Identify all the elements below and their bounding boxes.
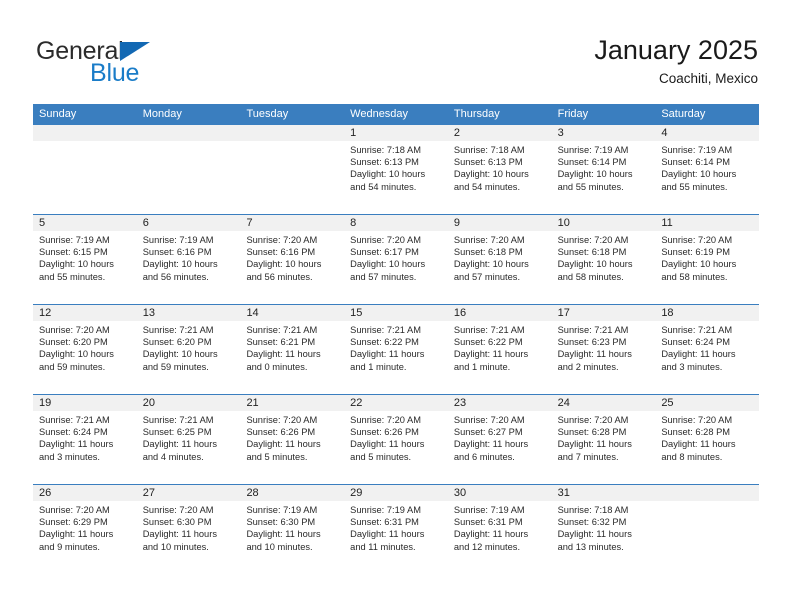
sunrise-text: Sunrise: 7:20 AM <box>246 414 339 426</box>
day-info: Sunrise: 7:21 AMSunset: 6:25 PMDaylight:… <box>137 411 241 463</box>
daylight-text-line1: Daylight: 10 hours <box>39 348 132 360</box>
day-cell[interactable]: 19Sunrise: 7:21 AMSunset: 6:24 PMDayligh… <box>33 395 137 484</box>
day-cell[interactable]: 21Sunrise: 7:20 AMSunset: 6:26 PMDayligh… <box>240 395 344 484</box>
day-info: Sunrise: 7:19 AMSunset: 6:16 PMDaylight:… <box>137 231 241 283</box>
day-cell[interactable]: 17Sunrise: 7:21 AMSunset: 6:23 PMDayligh… <box>552 305 656 394</box>
day-number <box>33 125 137 141</box>
week-row: 5Sunrise: 7:19 AMSunset: 6:15 PMDaylight… <box>33 214 759 304</box>
day-info: Sunrise: 7:21 AMSunset: 6:23 PMDaylight:… <box>552 321 656 373</box>
sunrise-text: Sunrise: 7:19 AM <box>246 504 339 516</box>
day-info: Sunrise: 7:21 AMSunset: 6:22 PMDaylight:… <box>448 321 552 373</box>
sunrise-text: Sunrise: 7:20 AM <box>39 324 132 336</box>
daylight-text-line2: and 57 minutes. <box>454 271 547 283</box>
day-number: 31 <box>552 485 656 501</box>
day-cell-empty <box>655 485 759 574</box>
sunrise-text: Sunrise: 7:20 AM <box>558 414 651 426</box>
weekday-header-row: Sunday Monday Tuesday Wednesday Thursday… <box>33 104 759 125</box>
day-info: Sunrise: 7:21 AMSunset: 6:22 PMDaylight:… <box>344 321 448 373</box>
weekday-header-friday: Friday <box>552 104 656 125</box>
daylight-text-line1: Daylight: 11 hours <box>246 528 339 540</box>
daylight-text-line2: and 11 minutes. <box>350 541 443 553</box>
daylight-text-line1: Daylight: 11 hours <box>454 528 547 540</box>
sunrise-text: Sunrise: 7:19 AM <box>558 144 651 156</box>
day-cell[interactable]: 15Sunrise: 7:21 AMSunset: 6:22 PMDayligh… <box>344 305 448 394</box>
daylight-text-line1: Daylight: 10 hours <box>454 168 547 180</box>
day-number: 21 <box>240 395 344 411</box>
daylight-text-line1: Daylight: 10 hours <box>143 258 236 270</box>
week-row: 26Sunrise: 7:20 AMSunset: 6:29 PMDayligh… <box>33 484 759 574</box>
daylight-text-line1: Daylight: 10 hours <box>246 258 339 270</box>
day-number <box>655 485 759 501</box>
daylight-text-line1: Daylight: 11 hours <box>143 528 236 540</box>
daylight-text-line1: Daylight: 10 hours <box>143 348 236 360</box>
daylight-text-line2: and 55 minutes. <box>558 181 651 193</box>
calendar-page: General Blue January 2025 Coachiti, Mexi… <box>0 0 792 612</box>
sunrise-text: Sunrise: 7:19 AM <box>143 234 236 246</box>
day-cell[interactable]: 26Sunrise: 7:20 AMSunset: 6:29 PMDayligh… <box>33 485 137 574</box>
daylight-text-line2: and 59 minutes. <box>39 361 132 373</box>
day-number: 2 <box>448 125 552 141</box>
day-cell[interactable]: 11Sunrise: 7:20 AMSunset: 6:19 PMDayligh… <box>655 215 759 304</box>
day-cell[interactable]: 10Sunrise: 7:20 AMSunset: 6:18 PMDayligh… <box>552 215 656 304</box>
daylight-text-line2: and 58 minutes. <box>558 271 651 283</box>
day-number: 28 <box>240 485 344 501</box>
sunset-text: Sunset: 6:14 PM <box>661 156 754 168</box>
day-info: Sunrise: 7:20 AMSunset: 6:18 PMDaylight:… <box>448 231 552 283</box>
week-row: 1Sunrise: 7:18 AMSunset: 6:13 PMDaylight… <box>33 125 759 214</box>
daylight-text-line2: and 55 minutes. <box>661 181 754 193</box>
day-info: Sunrise: 7:20 AMSunset: 6:20 PMDaylight:… <box>33 321 137 373</box>
day-cell[interactable]: 24Sunrise: 7:20 AMSunset: 6:28 PMDayligh… <box>552 395 656 484</box>
day-cell[interactable]: 16Sunrise: 7:21 AMSunset: 6:22 PMDayligh… <box>448 305 552 394</box>
day-number: 22 <box>344 395 448 411</box>
sunset-text: Sunset: 6:16 PM <box>143 246 236 258</box>
daylight-text-line1: Daylight: 11 hours <box>661 438 754 450</box>
sunrise-text: Sunrise: 7:21 AM <box>558 324 651 336</box>
daylight-text-line2: and 3 minutes. <box>661 361 754 373</box>
day-cell[interactable]: 1Sunrise: 7:18 AMSunset: 6:13 PMDaylight… <box>344 125 448 214</box>
sunset-text: Sunset: 6:20 PM <box>143 336 236 348</box>
calendar-grid: Sunday Monday Tuesday Wednesday Thursday… <box>33 104 759 574</box>
daylight-text-line2: and 5 minutes. <box>350 451 443 463</box>
daylight-text-line2: and 10 minutes. <box>246 541 339 553</box>
sunrise-text: Sunrise: 7:18 AM <box>454 144 547 156</box>
weekday-header-wednesday: Wednesday <box>344 104 448 125</box>
daylight-text-line2: and 58 minutes. <box>661 271 754 283</box>
sunset-text: Sunset: 6:25 PM <box>143 426 236 438</box>
day-number <box>240 125 344 141</box>
day-info: Sunrise: 7:21 AMSunset: 6:21 PMDaylight:… <box>240 321 344 373</box>
sunset-text: Sunset: 6:28 PM <box>558 426 651 438</box>
sunrise-text: Sunrise: 7:21 AM <box>143 324 236 336</box>
daylight-text-line2: and 0 minutes. <box>246 361 339 373</box>
day-number: 10 <box>552 215 656 231</box>
sunrise-text: Sunrise: 7:20 AM <box>661 414 754 426</box>
daylight-text-line1: Daylight: 10 hours <box>661 258 754 270</box>
daylight-text-line1: Daylight: 10 hours <box>661 168 754 180</box>
day-number: 17 <box>552 305 656 321</box>
daylight-text-line1: Daylight: 10 hours <box>558 168 651 180</box>
sunrise-text: Sunrise: 7:20 AM <box>454 234 547 246</box>
day-number: 11 <box>655 215 759 231</box>
day-number: 16 <box>448 305 552 321</box>
day-number: 9 <box>448 215 552 231</box>
sunset-text: Sunset: 6:18 PM <box>454 246 547 258</box>
day-number: 30 <box>448 485 552 501</box>
daylight-text-line1: Daylight: 10 hours <box>454 258 547 270</box>
daylight-text-line1: Daylight: 11 hours <box>558 528 651 540</box>
day-info: Sunrise: 7:20 AMSunset: 6:18 PMDaylight:… <box>552 231 656 283</box>
daylight-text-line1: Daylight: 11 hours <box>558 348 651 360</box>
day-info: Sunrise: 7:20 AMSunset: 6:19 PMDaylight:… <box>655 231 759 283</box>
logo-text-blue: Blue <box>90 60 139 87</box>
daylight-text-line2: and 54 minutes. <box>454 181 547 193</box>
daylight-text-line1: Daylight: 10 hours <box>558 258 651 270</box>
day-info: Sunrise: 7:20 AMSunset: 6:16 PMDaylight:… <box>240 231 344 283</box>
day-number: 26 <box>33 485 137 501</box>
day-info: Sunrise: 7:18 AMSunset: 6:32 PMDaylight:… <box>552 501 656 553</box>
sunset-text: Sunset: 6:13 PM <box>454 156 547 168</box>
day-cell[interactable]: 23Sunrise: 7:20 AMSunset: 6:27 PMDayligh… <box>448 395 552 484</box>
sunset-text: Sunset: 6:28 PM <box>661 426 754 438</box>
sunrise-text: Sunrise: 7:20 AM <box>454 414 547 426</box>
day-info: Sunrise: 7:20 AMSunset: 6:17 PMDaylight:… <box>344 231 448 283</box>
day-number: 15 <box>344 305 448 321</box>
sunrise-text: Sunrise: 7:19 AM <box>39 234 132 246</box>
daylight-text-line1: Daylight: 10 hours <box>39 258 132 270</box>
daylight-text-line1: Daylight: 10 hours <box>350 168 443 180</box>
daylight-text-line2: and 12 minutes. <box>454 541 547 553</box>
day-cell[interactable]: 27Sunrise: 7:20 AMSunset: 6:30 PMDayligh… <box>137 485 241 574</box>
day-info: Sunrise: 7:20 AMSunset: 6:26 PMDaylight:… <box>344 411 448 463</box>
day-info: Sunrise: 7:21 AMSunset: 6:20 PMDaylight:… <box>137 321 241 373</box>
sunrise-text: Sunrise: 7:20 AM <box>661 234 754 246</box>
sunset-text: Sunset: 6:24 PM <box>39 426 132 438</box>
daylight-text-line1: Daylight: 11 hours <box>454 348 547 360</box>
day-number: 20 <box>137 395 241 411</box>
sunrise-text: Sunrise: 7:20 AM <box>558 234 651 246</box>
sunrise-text: Sunrise: 7:19 AM <box>350 504 443 516</box>
day-info: Sunrise: 7:19 AMSunset: 6:31 PMDaylight:… <box>344 501 448 553</box>
day-info: Sunrise: 7:18 AMSunset: 6:13 PMDaylight:… <box>344 141 448 193</box>
sunset-text: Sunset: 6:14 PM <box>558 156 651 168</box>
sunset-text: Sunset: 6:22 PM <box>350 336 443 348</box>
daylight-text-line2: and 5 minutes. <box>246 451 339 463</box>
daylight-text-line1: Daylight: 11 hours <box>454 438 547 450</box>
day-cell[interactable]: 30Sunrise: 7:19 AMSunset: 6:31 PMDayligh… <box>448 485 552 574</box>
daylight-text-line1: Daylight: 11 hours <box>246 438 339 450</box>
sunrise-text: Sunrise: 7:21 AM <box>39 414 132 426</box>
day-number: 8 <box>344 215 448 231</box>
day-number: 19 <box>33 395 137 411</box>
day-cell[interactable]: 7Sunrise: 7:20 AMSunset: 6:16 PMDaylight… <box>240 215 344 304</box>
day-number: 7 <box>240 215 344 231</box>
daylight-text-line1: Daylight: 11 hours <box>350 438 443 450</box>
sunrise-text: Sunrise: 7:21 AM <box>246 324 339 336</box>
day-number: 24 <box>552 395 656 411</box>
day-cell[interactable]: 13Sunrise: 7:21 AMSunset: 6:20 PMDayligh… <box>137 305 241 394</box>
sunset-text: Sunset: 6:32 PM <box>558 516 651 528</box>
day-info: Sunrise: 7:19 AMSunset: 6:31 PMDaylight:… <box>448 501 552 553</box>
daylight-text-line2: and 6 minutes. <box>454 451 547 463</box>
page-title: January 2025 <box>594 34 758 66</box>
daylight-text-line2: and 59 minutes. <box>143 361 236 373</box>
sunset-text: Sunset: 6:19 PM <box>661 246 754 258</box>
day-number: 13 <box>137 305 241 321</box>
daylight-text-line2: and 3 minutes. <box>39 451 132 463</box>
sunrise-text: Sunrise: 7:21 AM <box>661 324 754 336</box>
page-subtitle: Coachiti, Mexico <box>594 70 758 87</box>
day-info: Sunrise: 7:20 AMSunset: 6:30 PMDaylight:… <box>137 501 241 553</box>
sunrise-text: Sunrise: 7:18 AM <box>558 504 651 516</box>
sunrise-text: Sunrise: 7:20 AM <box>350 414 443 426</box>
day-number: 4 <box>655 125 759 141</box>
daylight-text-line2: and 1 minute. <box>454 361 547 373</box>
day-info: Sunrise: 7:20 AMSunset: 6:29 PMDaylight:… <box>33 501 137 553</box>
sunrise-text: Sunrise: 7:20 AM <box>246 234 339 246</box>
daylight-text-line1: Daylight: 11 hours <box>39 528 132 540</box>
daylight-text-line1: Daylight: 11 hours <box>350 528 443 540</box>
day-cell[interactable]: 3Sunrise: 7:19 AMSunset: 6:14 PMDaylight… <box>552 125 656 214</box>
day-cell[interactable]: 14Sunrise: 7:21 AMSunset: 6:21 PMDayligh… <box>240 305 344 394</box>
day-number: 29 <box>344 485 448 501</box>
day-cell[interactable]: 29Sunrise: 7:19 AMSunset: 6:31 PMDayligh… <box>344 485 448 574</box>
day-info: Sunrise: 7:18 AMSunset: 6:13 PMDaylight:… <box>448 141 552 193</box>
daylight-text-line2: and 1 minute. <box>350 361 443 373</box>
day-cell-empty <box>137 125 241 214</box>
day-info: Sunrise: 7:21 AMSunset: 6:24 PMDaylight:… <box>33 411 137 463</box>
sunset-text: Sunset: 6:15 PM <box>39 246 132 258</box>
day-info: Sunrise: 7:21 AMSunset: 6:24 PMDaylight:… <box>655 321 759 373</box>
daylight-text-line2: and 13 minutes. <box>558 541 651 553</box>
weekday-header-thursday: Thursday <box>448 104 552 125</box>
day-number: 27 <box>137 485 241 501</box>
daylight-text-line1: Daylight: 11 hours <box>350 348 443 360</box>
day-number: 12 <box>33 305 137 321</box>
day-number: 23 <box>448 395 552 411</box>
sunrise-text: Sunrise: 7:19 AM <box>454 504 547 516</box>
sunset-text: Sunset: 6:20 PM <box>39 336 132 348</box>
sunset-text: Sunset: 6:29 PM <box>39 516 132 528</box>
daylight-text-line1: Daylight: 11 hours <box>39 438 132 450</box>
sunset-text: Sunset: 6:23 PM <box>558 336 651 348</box>
day-cell[interactable]: 31Sunrise: 7:18 AMSunset: 6:32 PMDayligh… <box>552 485 656 574</box>
sunset-text: Sunset: 6:24 PM <box>661 336 754 348</box>
sunset-text: Sunset: 6:22 PM <box>454 336 547 348</box>
daylight-text-line1: Daylight: 11 hours <box>143 438 236 450</box>
weekday-header-sunday: Sunday <box>33 104 137 125</box>
day-info: Sunrise: 7:20 AMSunset: 6:28 PMDaylight:… <box>552 411 656 463</box>
daylight-text-line2: and 9 minutes. <box>39 541 132 553</box>
day-info: Sunrise: 7:20 AMSunset: 6:26 PMDaylight:… <box>240 411 344 463</box>
day-cell[interactable]: 28Sunrise: 7:19 AMSunset: 6:30 PMDayligh… <box>240 485 344 574</box>
day-info: Sunrise: 7:19 AMSunset: 6:15 PMDaylight:… <box>33 231 137 283</box>
daylight-text-line2: and 54 minutes. <box>350 181 443 193</box>
day-cell[interactable]: 20Sunrise: 7:21 AMSunset: 6:25 PMDayligh… <box>137 395 241 484</box>
daylight-text-line2: and 57 minutes. <box>350 271 443 283</box>
sunset-text: Sunset: 6:18 PM <box>558 246 651 258</box>
sunrise-text: Sunrise: 7:19 AM <box>661 144 754 156</box>
week-row: 19Sunrise: 7:21 AMSunset: 6:24 PMDayligh… <box>33 394 759 484</box>
weekday-header-tuesday: Tuesday <box>240 104 344 125</box>
sunset-text: Sunset: 6:21 PM <box>246 336 339 348</box>
day-cell[interactable]: 8Sunrise: 7:20 AMSunset: 6:17 PMDaylight… <box>344 215 448 304</box>
day-number: 1 <box>344 125 448 141</box>
day-cell-empty <box>33 125 137 214</box>
day-cell[interactable]: 4Sunrise: 7:19 AMSunset: 6:14 PMDaylight… <box>655 125 759 214</box>
day-cell[interactable]: 2Sunrise: 7:18 AMSunset: 6:13 PMDaylight… <box>448 125 552 214</box>
daylight-text-line1: Daylight: 10 hours <box>350 258 443 270</box>
sunset-text: Sunset: 6:13 PM <box>350 156 443 168</box>
general-blue-logo[interactable]: General Blue <box>36 38 236 88</box>
week-row: 12Sunrise: 7:20 AMSunset: 6:20 PMDayligh… <box>33 304 759 394</box>
day-number: 6 <box>137 215 241 231</box>
sunrise-text: Sunrise: 7:20 AM <box>39 504 132 516</box>
daylight-text-line1: Daylight: 11 hours <box>246 348 339 360</box>
day-cell[interactable]: 12Sunrise: 7:20 AMSunset: 6:20 PMDayligh… <box>33 305 137 394</box>
day-info: Sunrise: 7:19 AMSunset: 6:14 PMDaylight:… <box>552 141 656 193</box>
day-number: 3 <box>552 125 656 141</box>
day-info: Sunrise: 7:20 AMSunset: 6:27 PMDaylight:… <box>448 411 552 463</box>
daylight-text-line2: and 55 minutes. <box>39 271 132 283</box>
day-info: Sunrise: 7:19 AMSunset: 6:14 PMDaylight:… <box>655 141 759 193</box>
daylight-text-line2: and 56 minutes. <box>143 271 236 283</box>
sunset-text: Sunset: 6:31 PM <box>350 516 443 528</box>
day-cell[interactable]: 9Sunrise: 7:20 AMSunset: 6:18 PMDaylight… <box>448 215 552 304</box>
day-number: 18 <box>655 305 759 321</box>
sunrise-text: Sunrise: 7:21 AM <box>143 414 236 426</box>
daylight-text-line2: and 8 minutes. <box>661 451 754 463</box>
day-cell[interactable]: 22Sunrise: 7:20 AMSunset: 6:26 PMDayligh… <box>344 395 448 484</box>
daylight-text-line2: and 56 minutes. <box>246 271 339 283</box>
sunset-text: Sunset: 6:26 PM <box>350 426 443 438</box>
weeks-container: 1Sunrise: 7:18 AMSunset: 6:13 PMDaylight… <box>33 125 759 574</box>
sunset-text: Sunset: 6:17 PM <box>350 246 443 258</box>
sunset-text: Sunset: 6:31 PM <box>454 516 547 528</box>
day-info: Sunrise: 7:20 AMSunset: 6:28 PMDaylight:… <box>655 411 759 463</box>
weekday-header-saturday: Saturday <box>655 104 759 125</box>
day-info: Sunrise: 7:19 AMSunset: 6:30 PMDaylight:… <box>240 501 344 553</box>
day-cell[interactable]: 6Sunrise: 7:19 AMSunset: 6:16 PMDaylight… <box>137 215 241 304</box>
sunset-text: Sunset: 6:30 PM <box>246 516 339 528</box>
daylight-text-line2: and 10 minutes. <box>143 541 236 553</box>
sunset-text: Sunset: 6:30 PM <box>143 516 236 528</box>
title-block: January 2025 Coachiti, Mexico <box>594 34 758 87</box>
day-cell[interactable]: 18Sunrise: 7:21 AMSunset: 6:24 PMDayligh… <box>655 305 759 394</box>
daylight-text-line2: and 2 minutes. <box>558 361 651 373</box>
day-number: 25 <box>655 395 759 411</box>
daylight-text-line2: and 7 minutes. <box>558 451 651 463</box>
daylight-text-line1: Daylight: 11 hours <box>558 438 651 450</box>
sunset-text: Sunset: 6:16 PM <box>246 246 339 258</box>
sunset-text: Sunset: 6:27 PM <box>454 426 547 438</box>
sunrise-text: Sunrise: 7:21 AM <box>350 324 443 336</box>
day-cell-empty <box>240 125 344 214</box>
day-number <box>137 125 241 141</box>
sunrise-text: Sunrise: 7:18 AM <box>350 144 443 156</box>
weekday-header-monday: Monday <box>137 104 241 125</box>
sunset-text: Sunset: 6:26 PM <box>246 426 339 438</box>
day-number: 5 <box>33 215 137 231</box>
day-cell[interactable]: 25Sunrise: 7:20 AMSunset: 6:28 PMDayligh… <box>655 395 759 484</box>
daylight-text-line1: Daylight: 11 hours <box>661 348 754 360</box>
sunrise-text: Sunrise: 7:20 AM <box>350 234 443 246</box>
day-cell[interactable]: 5Sunrise: 7:19 AMSunset: 6:15 PMDaylight… <box>33 215 137 304</box>
page-header: General Blue January 2025 Coachiti, Mexi… <box>0 0 792 104</box>
sunrise-text: Sunrise: 7:20 AM <box>143 504 236 516</box>
day-number: 14 <box>240 305 344 321</box>
sunrise-text: Sunrise: 7:21 AM <box>454 324 547 336</box>
daylight-text-line2: and 4 minutes. <box>143 451 236 463</box>
